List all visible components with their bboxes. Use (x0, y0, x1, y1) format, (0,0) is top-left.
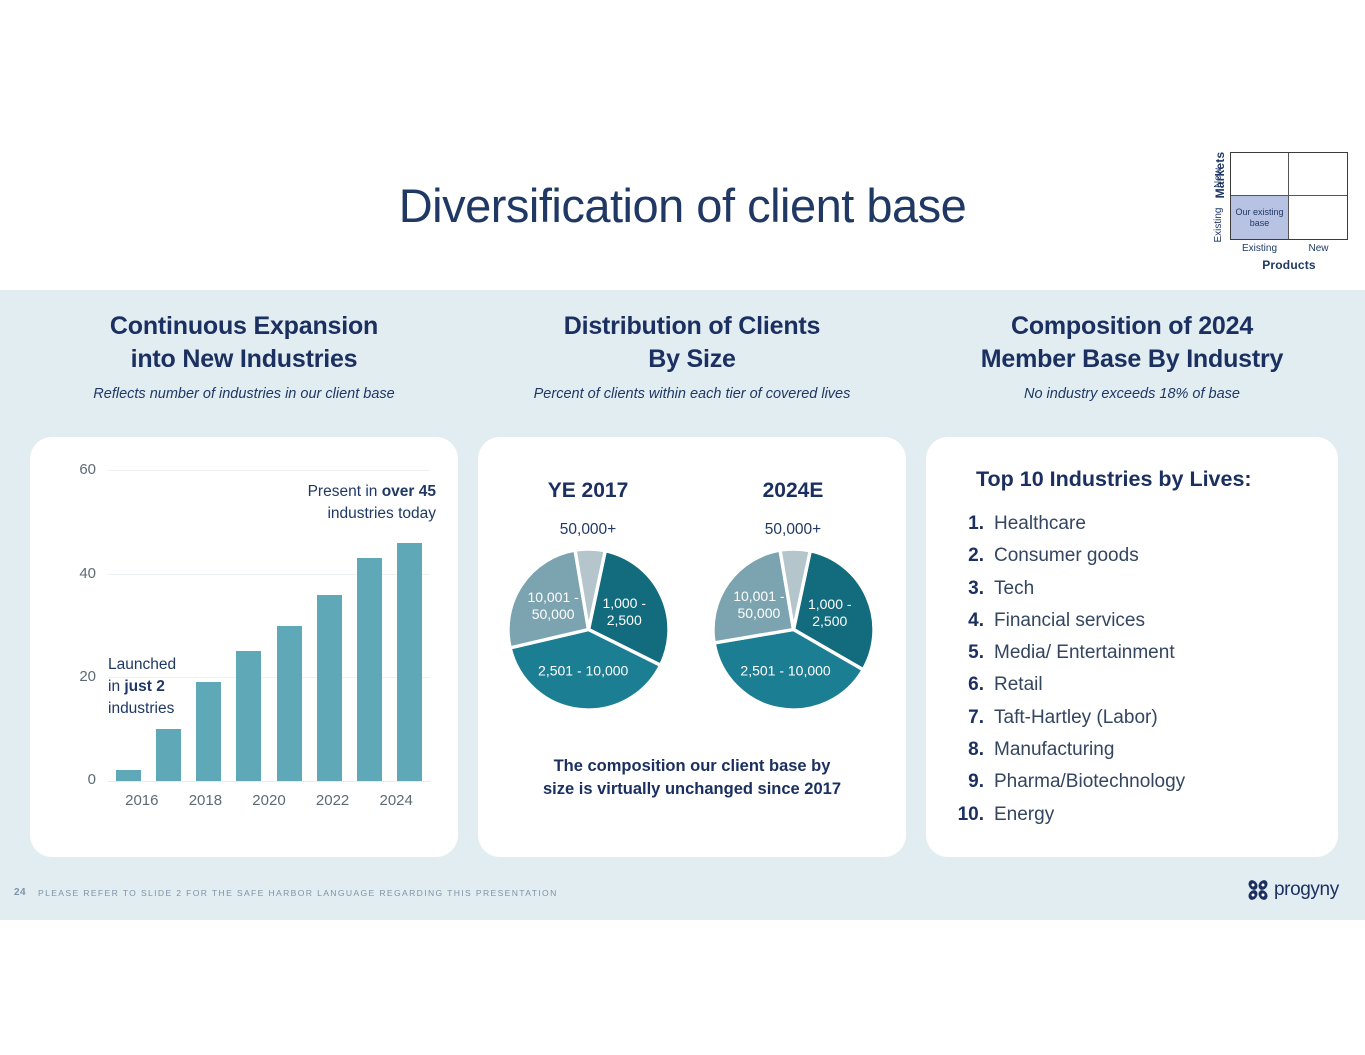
ansoff-y-tick-existing: Existing (1213, 202, 1227, 248)
annotation-present-post: industries today (327, 505, 436, 522)
industry-list-item: 2.Consumer goods (954, 540, 1310, 572)
column-right-heading-line1: Composition of 2024 (1011, 312, 1253, 340)
y-tick-label-0: 0 (56, 771, 96, 788)
pie-svg-0 (506, 547, 671, 712)
x-axis-line (108, 781, 430, 783)
industry-rank-8: 8. (954, 734, 994, 766)
bar-5 (317, 595, 342, 781)
industry-list: 1.Healthcare2.Consumer goods3.Tech4.Fina… (954, 508, 1310, 831)
x-tick-2020: 2020 (237, 792, 301, 809)
industry-list-item: 6.Retail (954, 669, 1310, 701)
industry-list-item: 7.Taft-Hartley (Labor) (954, 702, 1310, 734)
annotation-present-bold: over 45 (382, 483, 436, 500)
column-left-subheading: Reflects number of industries in our cli… (30, 386, 458, 402)
industry-label-3: Tech (994, 573, 1034, 605)
page-number: 24 (14, 887, 26, 898)
y-tick-label-60: 60 (56, 461, 96, 478)
column-left-header: Continuous Expansion into New Industries… (30, 310, 458, 402)
annotation-launched-pre: Launched (108, 656, 176, 673)
column-left-heading: Continuous Expansion into New Industries (30, 310, 458, 376)
bar-3 (236, 651, 261, 780)
card-bar-chart: 60 40 20 0 2016 2018 2020 2022 2024 Pres… (30, 437, 458, 857)
industry-list-item: 9.Pharma/Biotechnology (954, 766, 1310, 798)
pie-title-2024e: 2024E (693, 479, 893, 503)
industry-label-4: Financial services (994, 605, 1145, 637)
bar-6 (357, 558, 382, 780)
ansoff-cell-existing-new (1231, 153, 1289, 196)
x-tick-2022: 2022 (301, 792, 365, 809)
pie-block-ye-2017: YE 2017 50,000+ 1,000 -2,5002,501 - 10,0… (488, 479, 688, 712)
pie-2024e: 1,000 -2,5002,501 - 10,00010,001 -50,000 (711, 547, 876, 712)
pie-footnote-line1: The composition our client base by (554, 757, 831, 775)
ansoff-x-ticks: Existing New (1230, 243, 1348, 254)
page-title: Diversification of client base (0, 178, 1365, 233)
industry-label-8: Manufacturing (994, 734, 1114, 766)
pie-title-ye-2017: YE 2017 (488, 479, 688, 503)
industry-rank-5: 5. (954, 637, 994, 669)
industry-list-item: 3.Tech (954, 573, 1310, 605)
industry-label-2: Consumer goods (994, 540, 1139, 572)
y-tick-label-20: 20 (56, 668, 96, 685)
column-mid-heading-line2: By Size (648, 345, 736, 373)
column-left-heading-line1: Continuous Expansion (110, 312, 378, 340)
ansoff-grid: Our existing base (1230, 152, 1348, 240)
industries-bar-chart: 60 40 20 0 2016 2018 2020 2022 2024 Pres… (30, 437, 458, 857)
industry-rank-10: 10. (954, 799, 994, 831)
x-tick-2016: 2016 (110, 792, 174, 809)
pie-label-50000-plus-2017: 50,000+ (488, 521, 688, 539)
slide-root: Diversification of client base Markets N… (0, 0, 1365, 1055)
column-right-header: Composition of 2024 Member Base By Indus… (926, 310, 1338, 402)
industry-panel: Top 10 Industries by Lives: 1.Healthcare… (926, 437, 1338, 857)
industry-list-item: 10.Energy (954, 799, 1310, 831)
industry-rank-1: 1. (954, 508, 994, 540)
safe-harbor-disclaimer: PLEASE REFER TO SLIDE 2 FOR THE SAFE HAR… (38, 888, 558, 898)
industry-list-item: 5.Media/ Entertainment (954, 637, 1310, 669)
ansoff-cell-existing-existing: Our existing base (1231, 196, 1289, 239)
industry-rank-7: 7. (954, 702, 994, 734)
card-industry-list: Top 10 Industries by Lives: 1.Healthcare… (926, 437, 1338, 857)
ansoff-x-tick-existing: Existing (1230, 243, 1289, 254)
x-tick-2018: 2018 (174, 792, 238, 809)
industry-label-9: Pharma/Biotechnology (994, 766, 1185, 798)
industry-list-title: Top 10 Industries by Lives: (976, 467, 1310, 492)
ansoff-matrix: Markets New Existing Our existing base E… (1186, 150, 1351, 278)
industry-rank-3: 3. (954, 573, 994, 605)
progyny-wordmark: progyny (1274, 879, 1339, 901)
ansoff-cell-new-new (1289, 153, 1347, 196)
column-mid-subheading: Percent of clients within each tier of c… (478, 386, 906, 402)
pie-footnote-line2: size is virtually unchanged since 2017 (543, 780, 841, 798)
bar-1 (156, 729, 181, 781)
card-pie-charts: YE 2017 50,000+ 1,000 -2,5002,501 - 10,0… (478, 437, 906, 857)
ansoff-x-axis-label: Products (1230, 258, 1348, 272)
pie-chart-group: YE 2017 50,000+ 1,000 -2,5002,501 - 10,0… (478, 437, 906, 857)
industry-list-item: 4.Financial services (954, 605, 1310, 637)
industry-list-item: 8.Manufacturing (954, 734, 1310, 766)
pie-block-2024e: 2024E 50,000+ 1,000 -2,5002,501 - 10,000… (693, 479, 893, 712)
annotation-launched-post: industries (108, 700, 174, 717)
progyny-mark-icon (1245, 878, 1271, 902)
x-tick-2024: 2024 (364, 792, 428, 809)
industry-rank-9: 9. (954, 766, 994, 798)
bar-7 (397, 543, 422, 781)
column-right-subheading: No industry exceeds 18% of base (926, 386, 1338, 402)
industry-label-10: Energy (994, 799, 1054, 831)
progyny-logo: progyny (1245, 878, 1339, 902)
bar-chart-x-ticks: 2016 2018 2020 2022 2024 (108, 792, 430, 809)
ansoff-y-tick-new: New (1213, 155, 1227, 201)
annotation-present-in: Present in over 45 industries today (226, 481, 436, 525)
bar-0 (116, 770, 141, 780)
industry-rank-4: 4. (954, 605, 994, 637)
industry-label-1: Healthcare (994, 508, 1086, 540)
industry-rank-2: 2. (954, 540, 994, 572)
industry-list-item: 1.Healthcare (954, 508, 1310, 540)
column-mid-header: Distribution of Clients By Size Percent … (478, 310, 906, 402)
industry-label-7: Taft-Hartley (Labor) (994, 702, 1158, 734)
pie-label-50000-plus-2024: 50,000+ (693, 521, 893, 539)
y-tick-label-40: 40 (56, 565, 96, 582)
annotation-launched-bold: just 2 (124, 678, 164, 695)
column-mid-heading: Distribution of Clients By Size (478, 310, 906, 376)
column-right-heading-line2: Member Base By Industry (981, 345, 1283, 373)
pie-ye-2017: 1,000 -2,5002,501 - 10,00010,001 -50,000 (506, 547, 671, 712)
industry-label-6: Retail (994, 669, 1043, 701)
ansoff-filled-cell-label: Our existing base (1231, 196, 1288, 239)
annotation-launched-mid: in (108, 678, 124, 695)
ansoff-cell-new-existing (1289, 196, 1347, 239)
column-right-heading: Composition of 2024 Member Base By Indus… (926, 310, 1338, 376)
industry-rank-6: 6. (954, 669, 994, 701)
pie-footnote: The composition our client base by size … (502, 755, 882, 802)
industry-label-5: Media/ Entertainment (994, 637, 1175, 669)
column-mid-heading-line1: Distribution of Clients (564, 312, 821, 340)
annotation-present-pre: Present in (308, 483, 382, 500)
ansoff-x-tick-new: New (1289, 243, 1348, 254)
column-left-heading-line2: into New Industries (131, 345, 358, 373)
pie-svg-1 (711, 547, 876, 712)
annotation-launched-in: Launched in just 2 industries (108, 654, 228, 720)
bar-4 (277, 626, 302, 781)
